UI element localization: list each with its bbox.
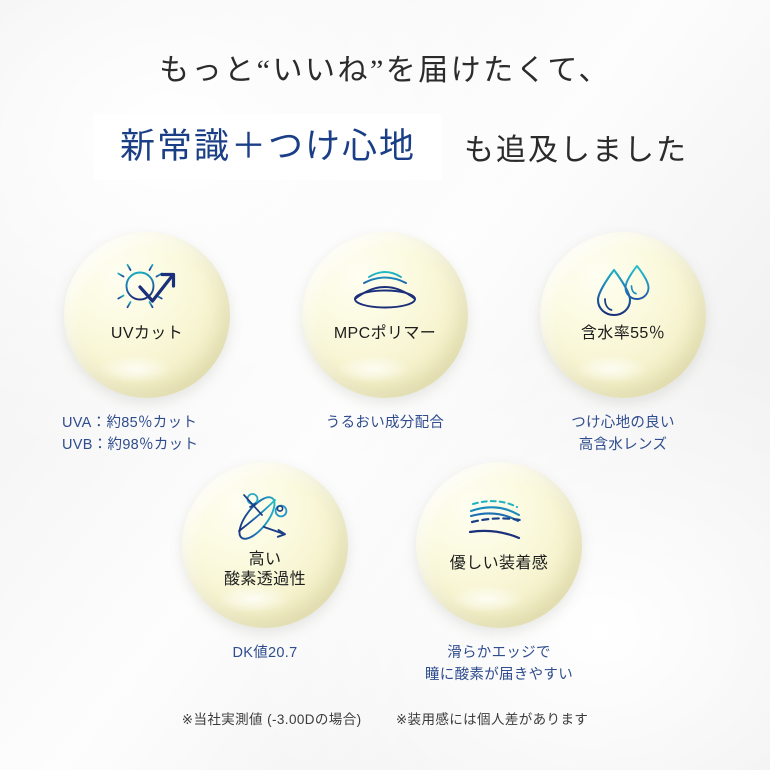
- sphere-label-comfort: 優しい装着感: [450, 554, 548, 574]
- sphere-label-oxygen: 高い 酸素透過性: [224, 550, 306, 591]
- headline-block: もっと“いいね”を届けたくて、: [0, 52, 770, 90]
- caption-water-line-2: 高含水レンズ: [528, 434, 718, 456]
- sphere-label-water: 含水率55％: [581, 324, 665, 344]
- feature-mpc-polymer: MPCポリマー うるおい成分配合: [290, 232, 480, 434]
- sphere-label-uv: UVカット: [111, 324, 183, 344]
- caption-comfort-line-1: 滑らかエッジで: [404, 642, 594, 664]
- caption-comfort: 滑らかエッジで 瞳に酸素が届きやすい: [404, 642, 594, 686]
- sphere-oxygen-permeability: 高い 酸素透過性: [182, 462, 348, 628]
- water-droplets-icon: [587, 258, 659, 318]
- caption-uv: UVA：約85％カット UVB：約98％カット: [52, 412, 242, 456]
- headline-line-2: 新常識＋つけ心地 も追及しました: [0, 112, 770, 182]
- footnote-2: ※装用感には個人差があります: [396, 708, 588, 728]
- caption-mpc-line-1: うるおい成分配合: [290, 412, 480, 434]
- caption-water: つけ心地の良い 高含水レンズ: [528, 412, 718, 456]
- footnotes: ※当社実測値 (-3.00Dの場合) ※装用感には個人差があります: [0, 708, 770, 728]
- sphere-label-mpc: MPCポリマー: [334, 324, 436, 344]
- promo-canvas: もっと“いいね”を届けたくて、 新常識＋つけ心地 も追及しました: [0, 0, 770, 770]
- caption-mpc: うるおい成分配合: [290, 412, 480, 434]
- uv-sun-arrow-icon: [111, 258, 183, 318]
- feature-water-content: 含水率55％ つけ心地の良い 高含水レンズ: [528, 232, 718, 456]
- feature-gentle-comfort: 優しい装着感 滑らかエッジで 瞳に酸素が届きやすい: [404, 462, 594, 686]
- headline-line-1: もっと“いいね”を届けたくて、: [0, 52, 770, 90]
- feature-uv-cut: UVカット UVA：約85％カット UVB：約98％カット: [52, 232, 242, 456]
- sphere-label-oxygen-line-2: 酸素透過性: [224, 570, 306, 590]
- caption-uv-line-2: UVB：約98％カット: [62, 434, 242, 456]
- oxygen-permeability-lens-icon: [229, 488, 301, 548]
- headline-highlight-text: 新常識＋つけ心地: [120, 129, 416, 164]
- caption-water-line-1: つけ心地の良い: [528, 412, 718, 434]
- headline-highlight-box: 新常識＋つけ心地: [94, 114, 442, 180]
- sphere-label-oxygen-line-1: 高い: [224, 550, 306, 570]
- sphere-gentle-comfort: 優しい装着感: [416, 462, 582, 628]
- smooth-edge-icon: [463, 488, 535, 548]
- lens-dome-moisture-icon: [349, 258, 421, 318]
- caption-oxygen: DK値20.7: [170, 642, 360, 664]
- sphere-mpc-polymer: MPCポリマー: [302, 232, 468, 398]
- footnote-1: ※当社実測値 (-3.00Dの場合): [182, 708, 362, 728]
- caption-oxygen-line-1: DK値20.7: [170, 642, 360, 664]
- caption-comfort-line-2: 瞳に酸素が届きやすい: [404, 664, 594, 686]
- feature-oxygen-permeability: 高い 酸素透過性 DK値20.7: [170, 462, 360, 664]
- sphere-water-content: 含水率55％: [540, 232, 706, 398]
- caption-uv-line-1: UVA：約85％カット: [62, 412, 242, 434]
- sphere-uv-cut: UVカット: [64, 232, 230, 398]
- headline-tail-text: も追及しました: [464, 125, 688, 169]
